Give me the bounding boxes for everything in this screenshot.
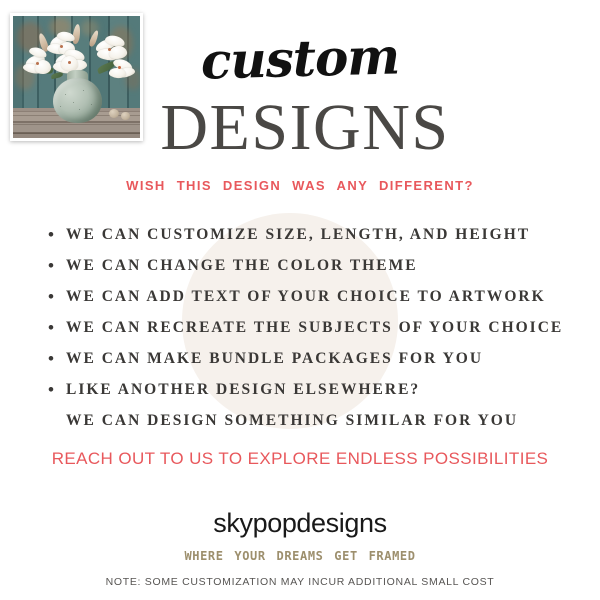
list-item: • WE CAN CHANGE THE COLOR THEME <box>48 250 588 281</box>
photo-stone <box>121 112 130 120</box>
bullet-icon: • <box>48 257 66 274</box>
fine-print-note: NOTE: SOME CUSTOMIZATION MAY INCUR ADDIT… <box>0 576 600 588</box>
photo-lily-center <box>68 61 71 64</box>
list-item-label: WE CAN RECREATE THE SUBJECTS OF YOUR CHO… <box>66 319 563 337</box>
photo-lily-center <box>118 66 121 69</box>
promo-graphic-canvas: custom DESIGNS WISH THIS DESIGN WAS ANY … <box>0 0 600 600</box>
bullet-icon: • <box>48 319 66 336</box>
bullet-icon: • <box>48 226 66 243</box>
list-item-label: WE CAN MAKE BUNDLE PACKAGES FOR YOU <box>66 350 483 368</box>
list-item: • LIKE ANOTHER DESIGN ELSEWHERE? <box>48 374 588 405</box>
list-item-label: LIKE ANOTHER DESIGN ELSEWHERE? <box>66 381 420 399</box>
photo-stone <box>109 109 119 118</box>
subtitle-question: WISH THIS DESIGN WAS ANY DIFFERENT? <box>0 178 600 193</box>
brand-name: skypopdesigns <box>0 508 600 539</box>
photo-table-grain <box>13 124 140 125</box>
list-item: • WE CAN RECREATE THE SUBJECTS OF YOUR C… <box>48 312 588 343</box>
list-item-label: WE CAN DESIGN SOMETHING SIMILAR FOR YOU <box>66 412 518 430</box>
photo-vase-speck <box>91 104 92 105</box>
product-photo-frame <box>10 13 143 141</box>
call-to-action-text: REACH OUT TO US TO EXPLORE ENDLESS POSSI… <box>0 449 600 469</box>
photo-table-grain <box>13 133 140 134</box>
bullet-icon: • <box>48 350 66 367</box>
photo-vase-speck <box>65 94 66 95</box>
list-item: • WE CAN MAKE BUNDLE PACKAGES FOR YOU <box>48 343 588 374</box>
photo-lily-center <box>36 62 39 65</box>
white-lilies-in-sage-vase-photo <box>13 16 140 138</box>
bullet-icon: • <box>48 381 66 398</box>
bullet-icon: • <box>48 288 66 305</box>
list-item-continuation: • WE CAN DESIGN SOMETHING SIMILAR FOR YO… <box>48 405 588 436</box>
feature-list: • WE CAN CUSTOMIZE SIZE, LENGTH, AND HEI… <box>48 219 588 436</box>
page-title-designs: DESIGNS <box>150 92 460 164</box>
photo-vase-speck <box>60 106 61 107</box>
list-item: • WE CAN ADD TEXT OF YOUR CHOICE TO ARTW… <box>48 281 588 312</box>
photo-vase-speck <box>83 90 84 91</box>
photo-vase-speck <box>79 109 80 110</box>
photo-vase-speck <box>73 102 74 103</box>
photo-lily-center <box>60 45 63 48</box>
list-item-label: WE CAN CUSTOMIZE SIZE, LENGTH, AND HEIGH… <box>66 226 530 244</box>
photo-lily-center <box>108 48 111 51</box>
list-item: • WE CAN CUSTOMIZE SIZE, LENGTH, AND HEI… <box>48 219 588 250</box>
brand-tagline: WHERE YOUR DREAMS GET FRAMED <box>0 549 600 563</box>
script-title-custom: custom <box>149 24 451 94</box>
list-item-label: WE CAN ADD TEXT OF YOUR CHOICE TO ARTWOR… <box>66 288 546 306</box>
list-item-label: WE CAN CHANGE THE COLOR THEME <box>66 257 418 275</box>
photo-vase-body <box>53 78 102 123</box>
